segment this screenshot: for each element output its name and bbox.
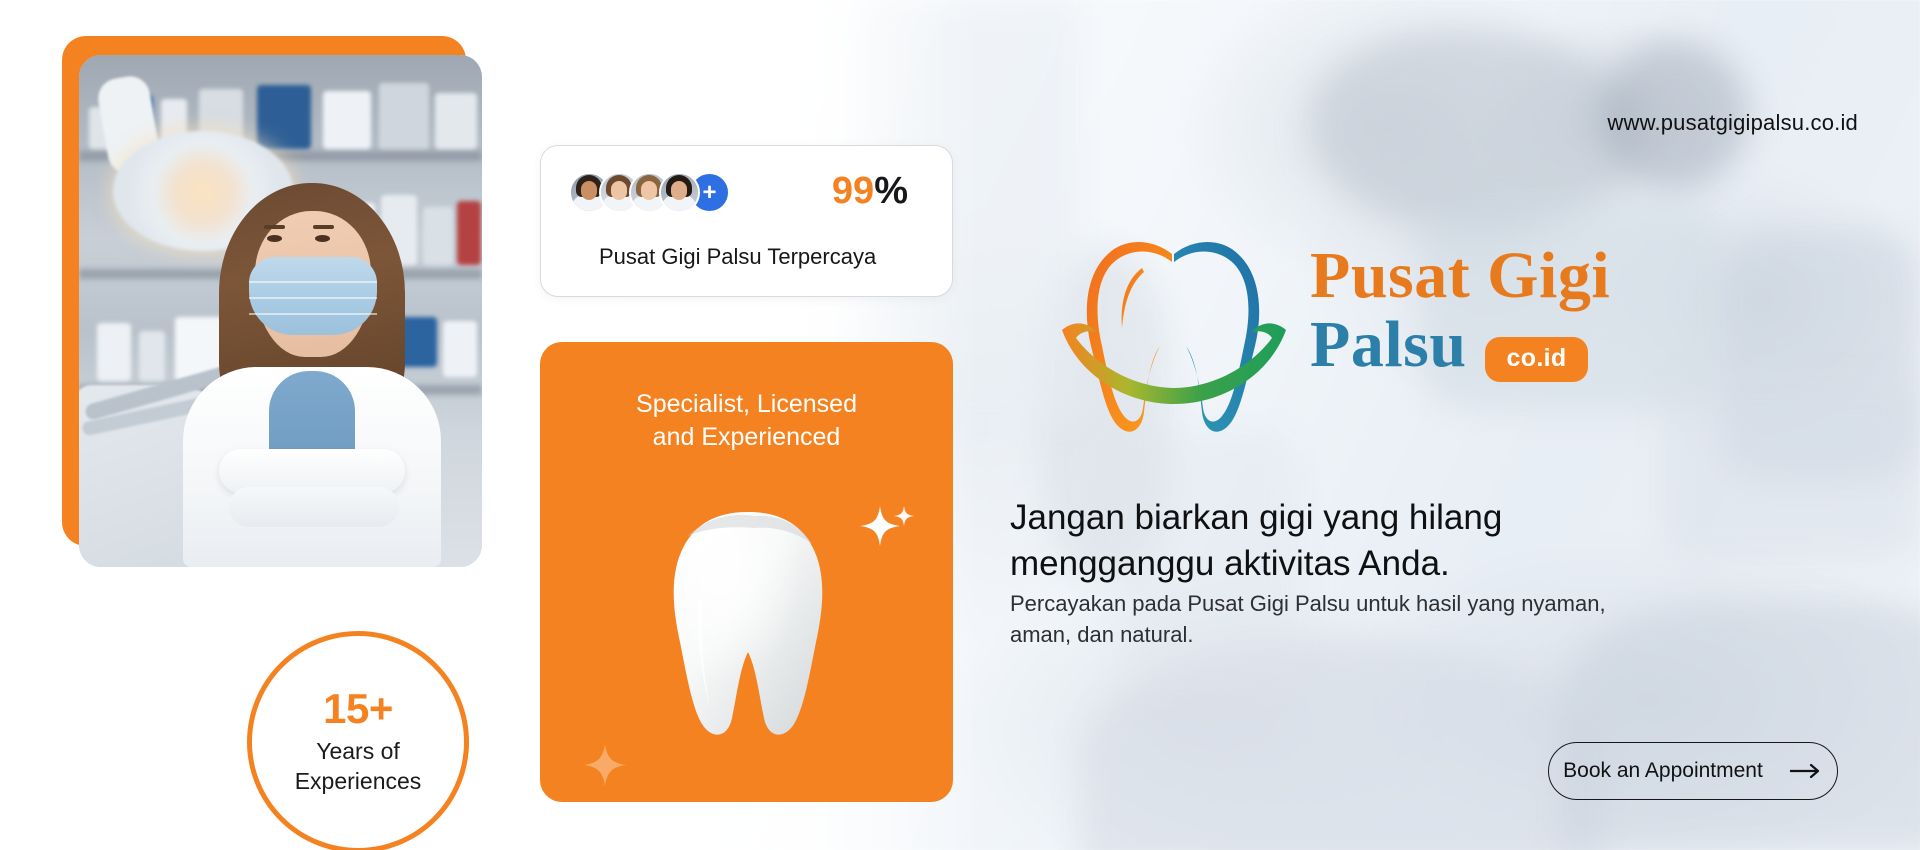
brand-logo: Pusat Gigi Palsu co.id xyxy=(1048,228,1748,448)
feature-title-line2: and Experienced xyxy=(540,421,953,454)
feature-card-title: Specialist, Licensed and Experienced xyxy=(540,388,953,454)
photo-dentist-arm-lower xyxy=(229,487,399,527)
photo-bottle-7 xyxy=(139,331,165,381)
trust-stat-card: + 99% Pusat Gigi Palsu Terpercaya xyxy=(540,145,953,297)
subhead-line2: aman, dan natural. xyxy=(1010,619,1710,650)
headline-line1: Jangan biarkan gigi yang hilang xyxy=(1010,495,1770,541)
photo-box-6 xyxy=(379,83,429,149)
hero-headline: Jangan biarkan gigi yang hilang menggang… xyxy=(1010,495,1770,586)
photo-box-5 xyxy=(323,91,371,149)
brand-word-2: Palsu xyxy=(1310,313,1467,378)
headline-line2: mengganggu aktivitas Anda. xyxy=(1010,541,1770,587)
years-experience-badge: 15+ Years of Experiences xyxy=(247,631,469,850)
brand-domain-badge: co.id xyxy=(1485,337,1589,382)
percent-symbol: % xyxy=(874,170,908,212)
trust-caption: Pusat Gigi Palsu Terpercaya xyxy=(599,244,876,270)
photo-dentist-figure xyxy=(183,183,441,567)
website-url: www.pusatgigipalsu.co.id xyxy=(1607,110,1858,136)
photo-dentist-brow-left xyxy=(264,225,285,229)
sparkle-icon xyxy=(582,742,628,793)
avatar-group: + xyxy=(569,172,730,213)
book-appointment-label: Book an Appointment xyxy=(1563,759,1763,783)
feature-card: Specialist, Licensed and Experienced xyxy=(540,342,953,802)
photo-box-7 xyxy=(435,93,477,149)
brand-wordmark: Pusat Gigi Palsu co.id xyxy=(1310,244,1610,377)
hero-subheadline: Percayakan pada Pusat Gigi Palsu untuk h… xyxy=(1010,588,1710,650)
dentist-photo xyxy=(79,55,482,567)
photo-dentist-face-mask xyxy=(249,257,377,335)
photo-box-11 xyxy=(443,321,477,377)
photo-bottle-6 xyxy=(97,323,131,381)
photo-bottle-5 xyxy=(457,201,481,265)
percent-number: 99 xyxy=(832,170,874,212)
book-appointment-button[interactable]: Book an Appointment xyxy=(1548,742,1838,800)
photo-dentist-eye-left xyxy=(267,235,282,242)
years-badge-line1: Years of xyxy=(316,737,400,766)
photo-box-4 xyxy=(257,85,311,149)
arrow-right-icon xyxy=(1789,763,1823,779)
sparkle-icon xyxy=(858,504,916,567)
photo-dentist-brow-right xyxy=(313,225,334,229)
photo-dentist-eye-right xyxy=(315,235,330,242)
dentist-photo-card: 15+ Years of Experiences xyxy=(62,36,482,566)
brand-word-1: Pusat Gigi xyxy=(1310,244,1610,309)
feature-title-line1: Specialist, Licensed xyxy=(540,388,953,421)
satisfaction-percent: 99% xyxy=(832,172,908,210)
tooth-3d-icon xyxy=(658,502,838,742)
years-badge-number: 15+ xyxy=(323,688,393,730)
avatar xyxy=(659,172,700,213)
years-badge-line2: Experiences xyxy=(295,767,422,796)
tooth-logo-icon xyxy=(1048,228,1298,443)
subhead-line1: Percayakan pada Pusat Gigi Palsu untuk h… xyxy=(1010,588,1710,619)
